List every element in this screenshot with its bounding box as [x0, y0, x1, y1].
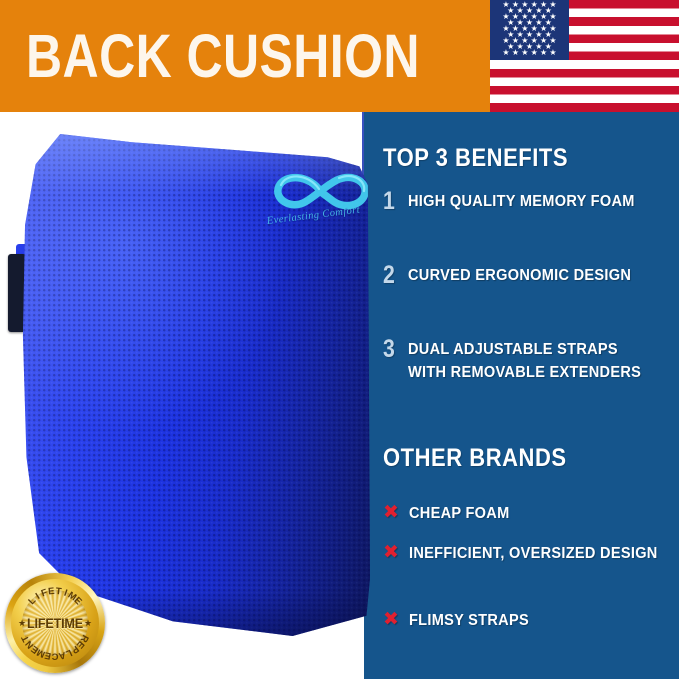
- benefits-heading: TOP 3 BENEFITS: [383, 144, 568, 173]
- red-x-icon: ✖: [383, 610, 402, 629]
- badge-center-label: LIFETIME: [10, 616, 100, 630]
- cushion-top-highlight: [18, 134, 370, 195]
- benefit-number: 2: [383, 264, 402, 286]
- benefit-number: 3: [383, 338, 402, 360]
- red-x-icon: ✖: [383, 543, 402, 562]
- lifetime-replacement-badge: LIFETIME REPLACEMENT ★ ★ LIFETIME: [5, 573, 105, 673]
- info-panel: TOP 3 BENEFITS 1 HIGH QUALITY MEMORY FOA…: [364, 112, 679, 679]
- us-flag-icon: ★ ★ ★ ★ ★ ★ ★ ★ ★ ★ ★ ★ ★ ★ ★ ★ ★ ★ ★ ★ …: [490, 0, 679, 112]
- benefit-label: CURVED ERGONOMIC DESIGN: [408, 264, 657, 287]
- benefit-label: DUAL ADJUSTABLE STRAPS WITH REMOVABLE EX…: [408, 338, 657, 384]
- back-cushion: Everlasting Comfort: [18, 134, 370, 639]
- product-infographic: BACK CUSHION ★ ★ ★ ★ ★ ★ ★ ★ ★ ★ ★ ★ ★ ★…: [0, 0, 679, 679]
- red-x-icon: ✖: [383, 503, 402, 522]
- product-photo: Everlasting Comfort: [0, 112, 375, 652]
- other-brands-heading: OTHER BRANDS: [383, 444, 567, 473]
- benefit-label: HIGH QUALITY MEMORY FOAM: [408, 190, 657, 213]
- other-brand-label: FLIMSY STRAPS: [409, 609, 658, 632]
- other-brand-label: CHEAP FOAM: [409, 502, 658, 525]
- other-brand-label: INEFFICIENT, OVERSIZED DESIGN: [409, 542, 658, 565]
- flag-star-row: ★ ★ ★ ★ ★ ★: [490, 50, 569, 56]
- flag-canton: ★ ★ ★ ★ ★ ★ ★ ★ ★ ★ ★ ★ ★ ★ ★ ★ ★ ★ ★ ★ …: [490, 0, 569, 60]
- cushion-shading: [18, 134, 370, 639]
- benefit-number: 1: [383, 190, 402, 212]
- page-title: BACK CUSHION: [26, 16, 395, 96]
